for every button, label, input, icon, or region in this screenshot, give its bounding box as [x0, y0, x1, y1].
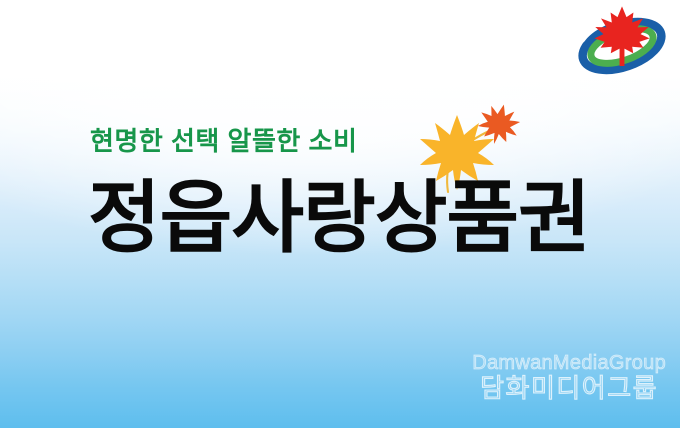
tagline-text: 현명한 선택 알뜰한 소비 [90, 128, 357, 154]
small-maple-leaf [475, 100, 524, 149]
watermark-hangul-text: 담화미디어그룹 [472, 375, 666, 402]
gift-certificate-banner: 현명한 선택 알뜰한 소비 정읍사랑상품권 DamwanMediaGroup 담… [0, 0, 680, 428]
jeongeup-city-logo [576, 2, 668, 78]
watermark-latin-text: DamwanMediaGroup [472, 353, 666, 374]
watermark: DamwanMediaGroup 담화미디어그룹 [472, 353, 666, 402]
page-title: 정읍사랑상품권 [88, 178, 590, 259]
